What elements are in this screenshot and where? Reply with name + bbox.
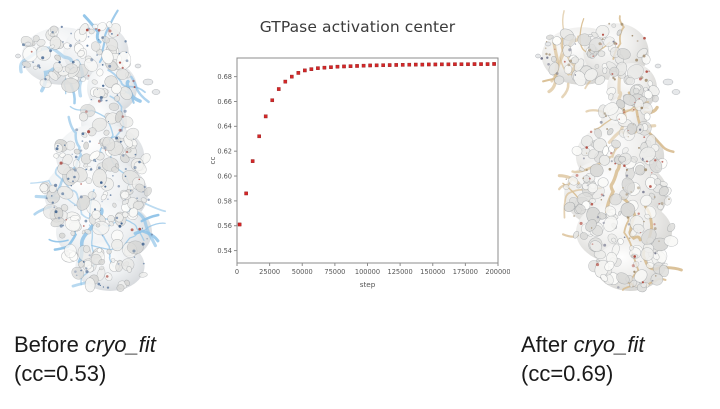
caption-before-cc: (cc=0.53) — [14, 359, 156, 388]
data-point — [297, 71, 300, 74]
x-tick-label: 100000 — [355, 268, 380, 276]
data-point — [486, 62, 489, 65]
plot-frame — [237, 58, 498, 263]
data-point — [258, 135, 261, 138]
x-tick-label: 200000 — [485, 268, 510, 276]
data-point — [284, 80, 287, 83]
x-tick-label: 0 — [235, 268, 239, 276]
caption-before-italic: cryo_fit — [85, 332, 156, 357]
after-cryo-fit-density-svg — [520, 4, 720, 322]
y-tick-label: 0.60 — [217, 172, 232, 180]
data-point — [414, 63, 417, 66]
before-cryo-fit-density-svg — [0, 4, 200, 322]
data-point — [323, 66, 326, 69]
data-point — [362, 64, 365, 67]
data-point — [453, 63, 456, 66]
y-tick-label: 0.68 — [217, 73, 232, 81]
data-point — [251, 160, 254, 163]
series-points — [238, 62, 496, 226]
data-point — [466, 63, 469, 66]
data-point — [421, 63, 424, 66]
data-point — [369, 64, 372, 67]
y-tick-label: 0.64 — [217, 123, 232, 131]
data-point — [401, 63, 404, 66]
data-point — [310, 68, 313, 71]
y-axis-label: cc — [208, 157, 217, 165]
data-point — [395, 63, 398, 66]
data-point — [440, 63, 443, 66]
data-point — [245, 192, 248, 195]
x-tick-label: 25000 — [259, 268, 280, 276]
data-point — [329, 66, 332, 69]
data-point — [460, 63, 463, 66]
data-point — [375, 64, 378, 67]
data-point — [349, 65, 352, 68]
y-tick-label: 0.62 — [217, 148, 232, 156]
caption-after: After cryo_fit (cc=0.69) — [521, 330, 645, 388]
data-point — [447, 63, 450, 66]
data-point — [342, 65, 345, 68]
structure-image-after — [520, 4, 720, 322]
data-point — [479, 62, 482, 65]
data-point — [408, 63, 411, 66]
x-tick-label: 75000 — [324, 268, 345, 276]
caption-after-prefix: After — [521, 332, 574, 357]
data-point — [290, 75, 293, 78]
y-tick-label: 0.54 — [217, 247, 232, 255]
y-tick-label: 0.56 — [217, 222, 232, 230]
data-point — [277, 87, 280, 90]
x-tick-label: 150000 — [420, 268, 445, 276]
data-point — [473, 62, 476, 65]
data-point — [303, 69, 306, 72]
x-axis-label: step — [360, 280, 376, 289]
caption-before: Before cryo_fit (cc=0.53) — [14, 330, 156, 388]
data-point — [316, 67, 319, 70]
data-point — [492, 62, 495, 65]
data-point — [355, 64, 358, 67]
y-tick-label: 0.66 — [217, 98, 232, 106]
x-tick-label: 175000 — [453, 268, 478, 276]
data-point — [271, 99, 274, 102]
caption-after-cc: (cc=0.69) — [521, 359, 645, 388]
y-tick-label: 0.58 — [217, 197, 232, 205]
structure-image-before — [0, 4, 200, 322]
data-point — [388, 63, 391, 66]
data-point — [264, 115, 267, 118]
x-tick-label: 125000 — [388, 268, 413, 276]
data-point — [336, 65, 339, 68]
data-point — [434, 63, 437, 66]
data-point — [382, 64, 385, 67]
chart-panel: GTPase activation center 0.540.560.580.6… — [205, 10, 510, 300]
x-tick-label: 50000 — [292, 268, 313, 276]
figure-root: GTPase activation center 0.540.560.580.6… — [0, 0, 720, 409]
data-point — [427, 63, 430, 66]
data-point — [238, 223, 241, 226]
caption-before-prefix: Before — [14, 332, 85, 357]
cc-vs-step-scatter-plot: 0.540.560.580.600.620.640.660.6802500050… — [205, 10, 510, 300]
caption-after-italic: cryo_fit — [574, 332, 645, 357]
